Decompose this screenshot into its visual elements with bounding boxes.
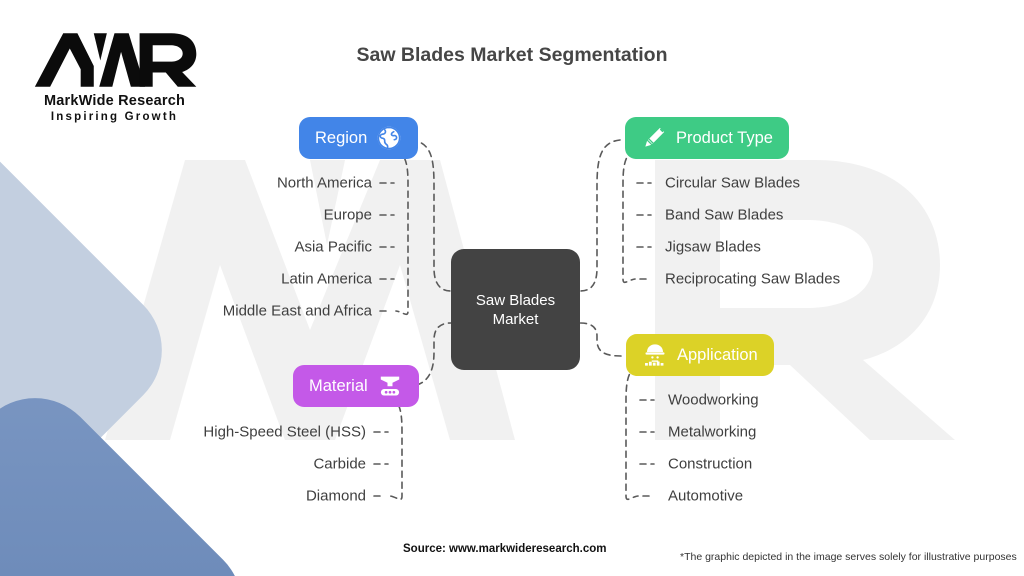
branch-label-application: Application	[677, 346, 758, 365]
leaf-product-reciprocating-saw-blades[interactable]: Reciprocating Saw Blades	[665, 271, 840, 288]
globe-icon	[376, 125, 402, 151]
branch-node-application[interactable]: Application	[626, 334, 774, 376]
machine-icon	[377, 373, 403, 399]
center-node-line-1: Saw Blades	[476, 291, 555, 310]
branch-label-product-type: Product Type	[676, 129, 773, 148]
infographic-canvas: MarkWide Research Inspiring Growth Saw B…	[0, 0, 1024, 576]
branch-node-product-type[interactable]: Product Type	[625, 117, 789, 159]
decor-square-dark	[0, 372, 268, 576]
wire-region-center	[411, 140, 451, 291]
leaf-region-middle-east-and-africa[interactable]: Middle East and Africa	[223, 303, 372, 320]
page-title: Saw Blades Market Segmentation	[0, 44, 1024, 67]
leaf-region-latin-america[interactable]: Latin America	[281, 271, 372, 288]
worker-icon	[642, 342, 668, 368]
leaf-material-carbide[interactable]: Carbide	[313, 456, 366, 473]
logo-company-name: MarkWide Research	[32, 93, 197, 109]
wire-product-center	[580, 140, 620, 291]
center-node-saw-blades-market[interactable]: Saw Blades Market	[451, 249, 580, 370]
pencil-icon	[641, 125, 667, 151]
leaf-application-woodworking[interactable]: Woodworking	[668, 392, 759, 409]
wire-region-spine	[396, 150, 408, 314]
leaf-application-metalworking[interactable]: Metalworking	[668, 424, 756, 441]
leaf-product-jigsaw-blades[interactable]: Jigsaw Blades	[665, 239, 761, 256]
center-node-line-2: Market	[476, 310, 555, 329]
leaf-region-north-america[interactable]: North America	[277, 175, 372, 192]
leaf-material-diamond[interactable]: Diamond	[306, 488, 366, 505]
leaf-material-high-speed-steel[interactable]: High-Speed Steel (HSS)	[203, 424, 366, 441]
leaf-product-circular-saw-blades[interactable]: Circular Saw Blades	[665, 175, 800, 192]
disclaimer-label: *The graphic depicted in the image serve…	[680, 551, 1017, 563]
wire-application-center	[580, 323, 621, 356]
decor-square-light	[0, 117, 188, 576]
wire-application-spine	[626, 366, 638, 499]
leaf-application-automotive[interactable]: Automotive	[668, 488, 743, 505]
branch-node-region[interactable]: Region	[299, 117, 418, 159]
logo-tagline: Inspiring Growth	[32, 111, 197, 123]
center-node-label: Saw Blades Market	[476, 291, 555, 329]
branch-label-material: Material	[309, 377, 368, 396]
leaf-application-construction[interactable]: Construction	[668, 456, 752, 473]
branch-node-material[interactable]: Material	[293, 365, 419, 407]
wire-material-spine	[390, 397, 402, 499]
leaf-region-europe[interactable]: Europe	[324, 207, 372, 224]
leaf-region-asia-pacific[interactable]: Asia Pacific	[294, 239, 372, 256]
leaf-product-band-saw-blades[interactable]: Band Saw Blades	[665, 207, 783, 224]
branch-label-region: Region	[315, 129, 367, 148]
source-label[interactable]: Source: www.markwideresearch.com	[403, 543, 606, 555]
wire-product-spine	[623, 150, 635, 282]
